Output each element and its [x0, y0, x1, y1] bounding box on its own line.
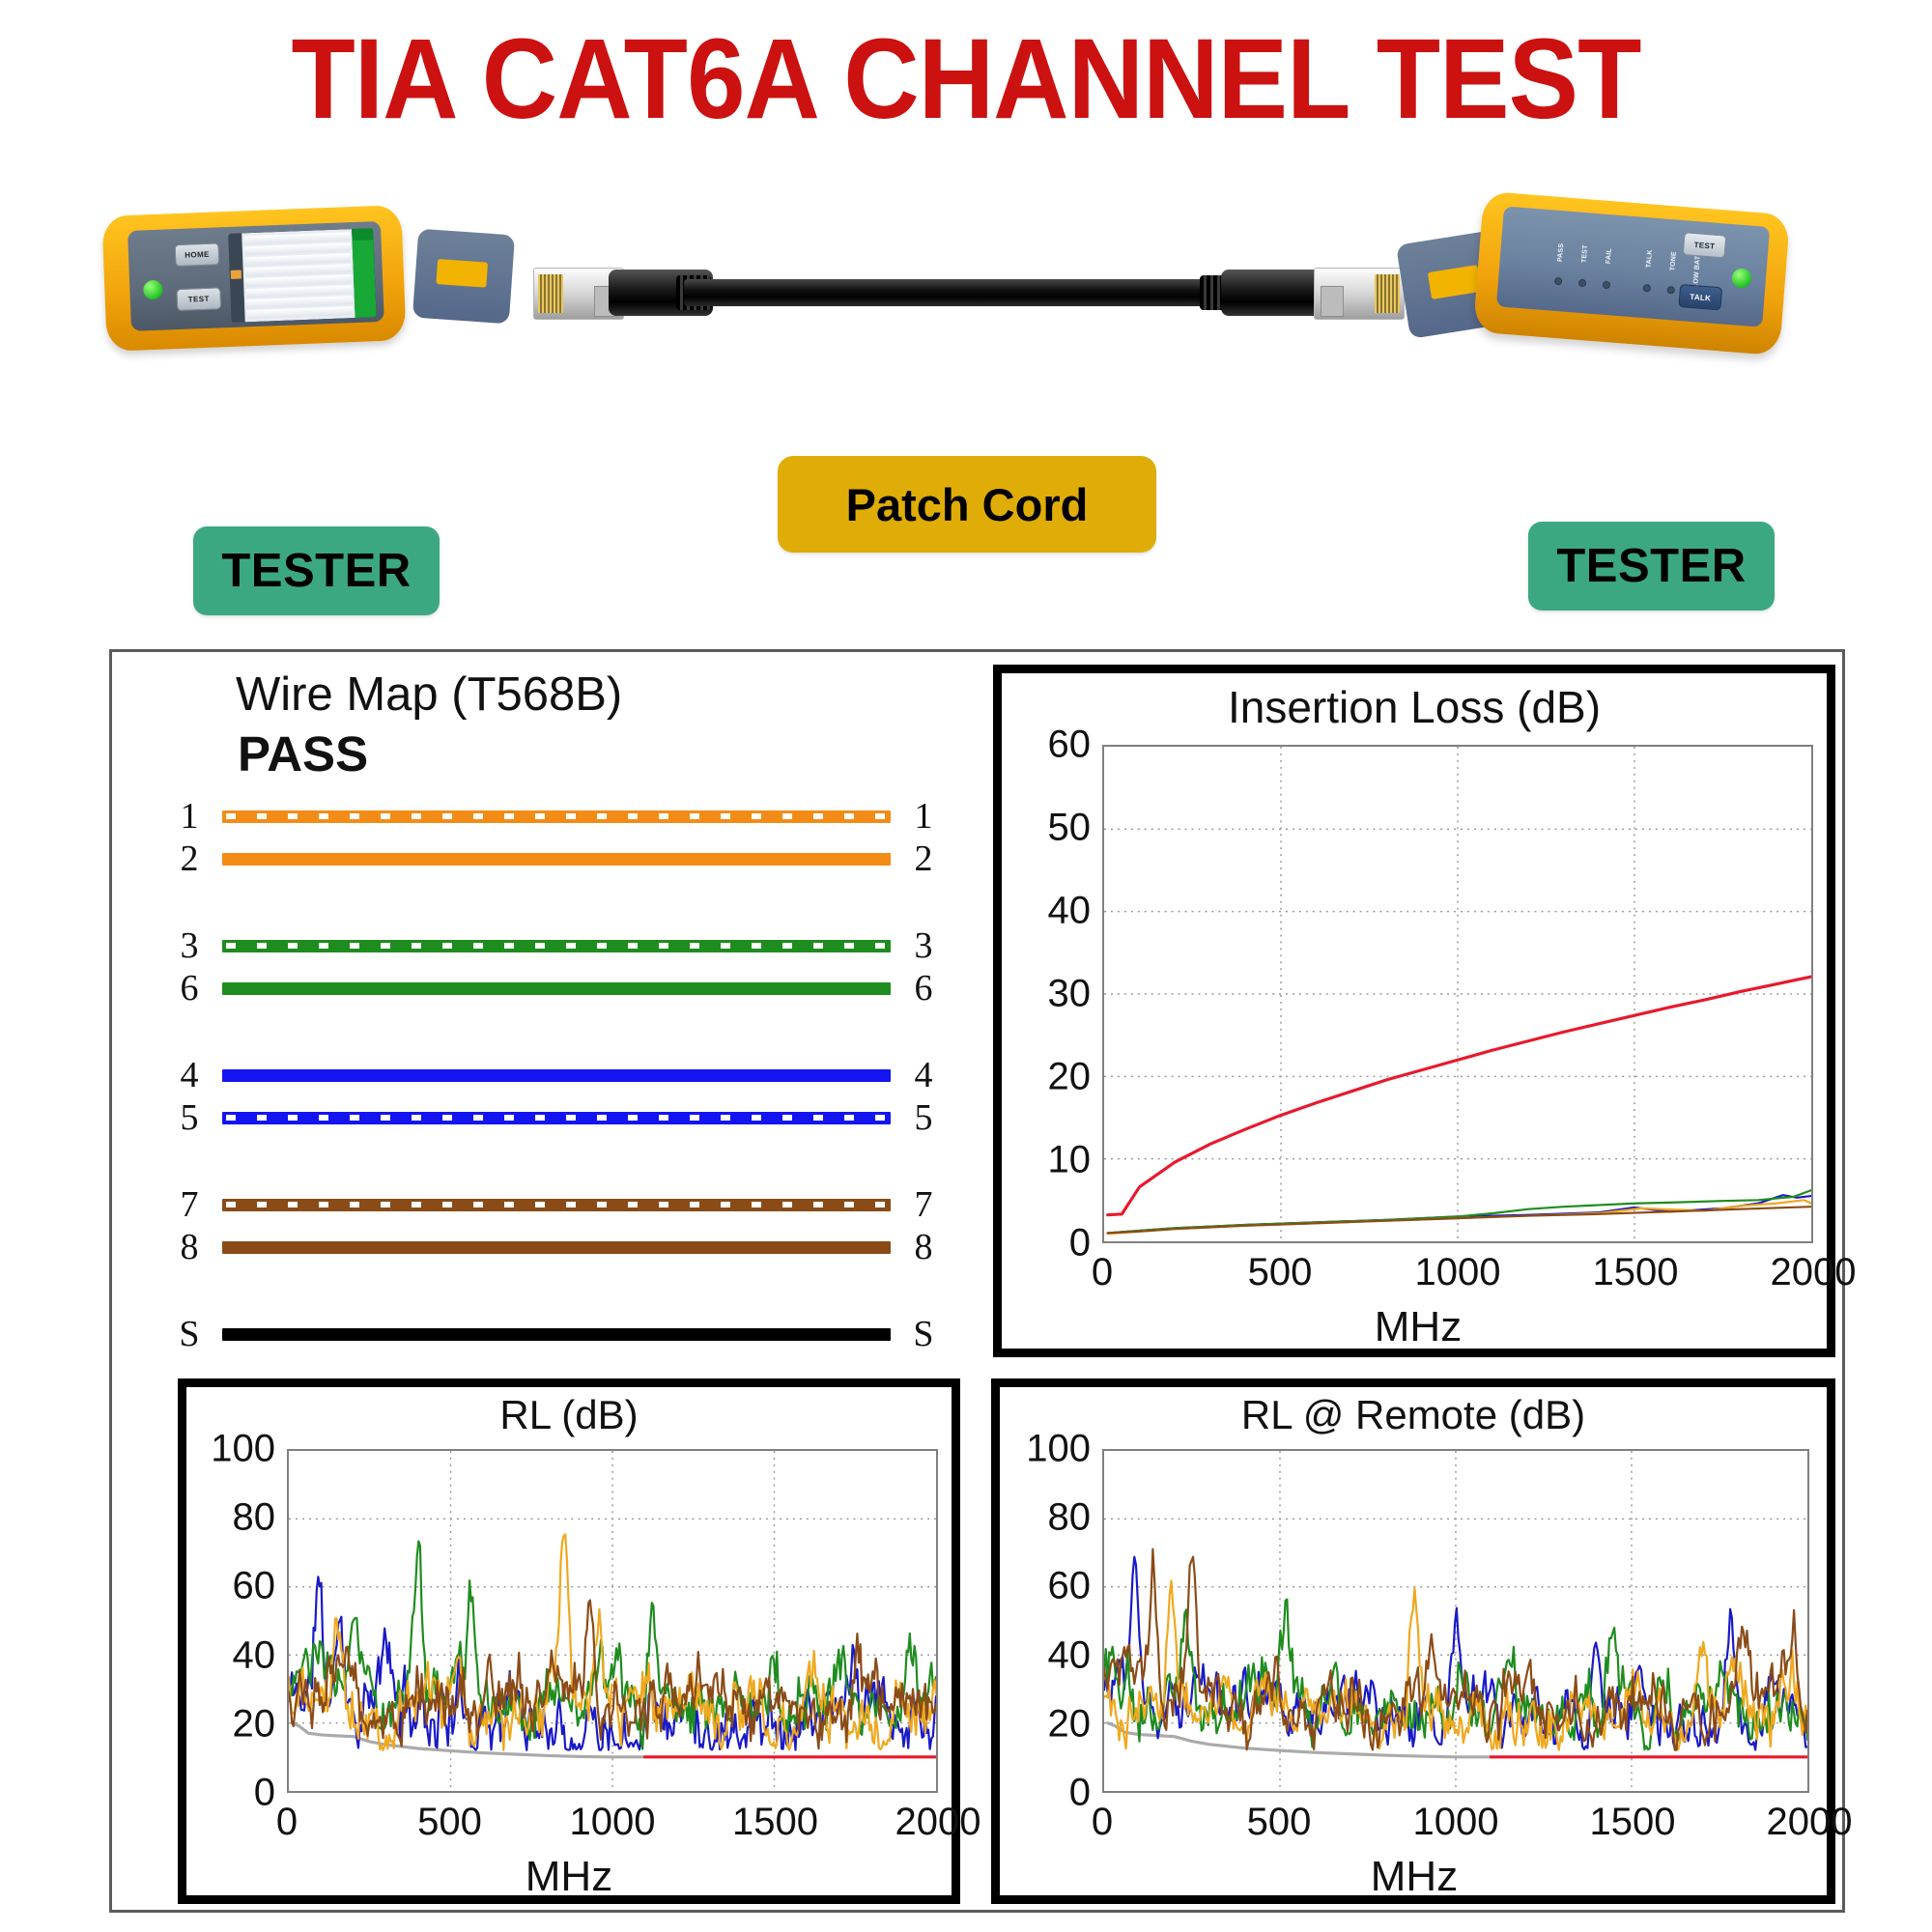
y-axis-tick-label: 40: [233, 1634, 276, 1677]
right-tester-talk-button[interactable]: TALK: [1678, 284, 1722, 310]
y-axis-tick-label: 0: [254, 1772, 275, 1815]
led-label-talk: TALK: [1644, 237, 1655, 281]
x-axis-tick-label: 2000: [1771, 1251, 1857, 1294]
y-axis-tick-label: 100: [1026, 1428, 1091, 1471]
patch-cord-plug-right: [1314, 268, 1405, 320]
patch-cord-boot-right: [1221, 270, 1325, 316]
wire-conductor: [222, 1069, 891, 1082]
led-label-tone: TONE: [1668, 239, 1679, 283]
led-dot-pass: [1554, 277, 1563, 286]
wire-map-section: Wire Map (T568B) PASS 1122336644557788SS: [112, 652, 986, 1348]
wire-pair-spacer: [170, 1009, 943, 1054]
chart-insertion-loss-title: Insertion Loss (dB): [1002, 681, 1827, 733]
wire-pin-number-left: S: [170, 1313, 209, 1355]
left-tester-secondary-label-plate: [436, 259, 488, 288]
x-axis-tick-label: 1000: [1413, 1801, 1499, 1844]
chart-rl-plot: 0204060801000500100015002000MHz: [190, 1443, 948, 1897]
x-axis-tick-label: 500: [1248, 1251, 1313, 1294]
wire-pair-spacer: [170, 1268, 943, 1313]
wire-pin-number-right: 7: [904, 1183, 943, 1226]
y-axis-tick-label: 10: [1048, 1139, 1092, 1182]
wire-map-title: Wire Map (T568B): [236, 668, 622, 722]
wire-pair-row: 22: [170, 838, 943, 880]
x-axis-tick-label: 1500: [1590, 1801, 1676, 1844]
wire-conductor: [222, 940, 891, 952]
wire-map-pair-list: 1122336644557788SS: [170, 795, 943, 1355]
patch-cord-cable: [533, 246, 1403, 339]
hardware-row: HOME TEST: [0, 179, 1932, 430]
x-axis-ticks: 0500100015002000: [1102, 1251, 1813, 1299]
wire-pin-number-right: 5: [904, 1096, 943, 1139]
led-label-test: TEST: [1579, 232, 1590, 276]
led-dot-fail: [1603, 281, 1611, 290]
right-tester-device[interactable]: PASS TEST FAIL TALK TONE LOW BATTERY TES…: [1473, 191, 1790, 355]
y-axis-ticks: 020406080100: [1006, 1449, 1091, 1793]
rj45-pins-left: [538, 274, 563, 313]
left-tester-power-led: [143, 280, 163, 300]
wire-conductor: [222, 1241, 891, 1254]
chart-rl: RL (dB) 0204060801000500100015002000MHz: [178, 1378, 960, 1904]
y-axis-tick-label: 30: [1048, 973, 1092, 1016]
wire-pair-row: 55: [170, 1096, 943, 1139]
wire-pin-number-right: S: [904, 1313, 943, 1355]
right-tester-led-group-status: PASS TEST FAIL: [1554, 230, 1614, 289]
chart-rl-remote-plot: 0204060801000500100015002000MHz: [1006, 1443, 1823, 1897]
chart-insertion-loss-plot: 01020304050600500100015002000MHz: [1009, 737, 1827, 1351]
x-axis-ticks: 0500100015002000: [1102, 1801, 1809, 1849]
led-dot-test: [1578, 279, 1587, 288]
wire-pin-number-right: 1: [904, 795, 943, 838]
y-axis-tick-label: 80: [233, 1496, 276, 1540]
chart-rl-remote-title: RL @ Remote (dB): [1000, 1392, 1827, 1438]
x-axis-label: MHz: [190, 1853, 948, 1901]
y-axis-tick-label: 60: [233, 1565, 276, 1608]
y-axis-tick-label: 20: [233, 1702, 276, 1746]
x-axis-tick-label: 0: [1092, 1801, 1113, 1844]
led-label-pass: PASS: [1555, 230, 1566, 274]
x-axis-label: MHz: [1009, 1303, 1827, 1351]
right-tester-secondary-label-plate: [1428, 265, 1482, 299]
led-label-fail: FAIL: [1604, 234, 1614, 278]
wire-conductor: [222, 1328, 891, 1341]
x-axis-label: MHz: [1006, 1853, 1823, 1901]
wire-conductor: [222, 982, 891, 995]
left-tester-faceplate: HOME TEST: [128, 221, 384, 331]
wire-conductor: [222, 853, 891, 866]
wire-conductor: [222, 1112, 891, 1124]
wire-pin-number-left: 2: [170, 838, 209, 880]
right-tester-test-button[interactable]: TEST: [1683, 232, 1727, 258]
x-axis-tick-label: 1500: [732, 1801, 818, 1844]
wire-pin-number-right: 4: [904, 1054, 943, 1096]
wire-pin-number-left: 7: [170, 1183, 209, 1226]
wire-pair-row: 88: [170, 1226, 943, 1268]
x-axis-tick-label: 1000: [1415, 1251, 1501, 1294]
label-patch-cord: Patch Cord: [778, 456, 1156, 553]
wire-pair-row: 33: [170, 924, 943, 967]
y-axis-tick-label: 20: [1048, 1702, 1092, 1746]
x-axis-tick-label: 500: [1247, 1801, 1312, 1844]
left-tester-device[interactable]: HOME TEST: [101, 205, 406, 352]
wire-pair-spacer: [170, 880, 943, 924]
x-axis-tick-label: 1500: [1593, 1251, 1679, 1294]
y-axis-tick-label: 60: [1048, 1565, 1092, 1608]
x-axis-tick-label: 0: [276, 1801, 298, 1844]
plot-area: [1102, 1449, 1809, 1793]
wire-pin-number-left: 5: [170, 1096, 209, 1139]
wire-pair-row: 66: [170, 967, 943, 1009]
patch-cord-jacket: [684, 279, 1260, 306]
y-axis-tick-label: 0: [1069, 1222, 1091, 1265]
y-axis-ticks: 0102030405060: [1009, 745, 1091, 1243]
label-tester-left: TESTER: [193, 526, 440, 615]
left-tester-result-rows: [241, 229, 355, 322]
x-axis-tick-label: 0: [1092, 1251, 1113, 1294]
rj45-shield-right: [1321, 286, 1344, 317]
wire-pin-number-left: 1: [170, 795, 209, 838]
wire-conductor: [222, 1199, 891, 1211]
rj45-pins-right: [1375, 274, 1400, 313]
chart-rl-remote: RL @ Remote (dB) 02040608010005001000150…: [991, 1378, 1835, 1904]
wire-pair-row: 44: [170, 1054, 943, 1096]
y-axis-tick-label: 40: [1048, 1634, 1092, 1677]
chart-insertion-loss: Insertion Loss (dB) 01020304050600500100…: [993, 665, 1835, 1357]
y-axis-tick-label: 60: [1048, 724, 1092, 767]
plot-area: [1102, 745, 1813, 1243]
x-axis-tick-label: 2000: [895, 1801, 981, 1844]
wire-pair-row: 11: [170, 795, 943, 838]
wire-pin-number-left: 4: [170, 1054, 209, 1096]
y-axis-tick-label: 100: [211, 1428, 275, 1471]
y-axis-tick-label: 40: [1048, 890, 1092, 933]
left-tester-test-button[interactable]: TEST: [176, 287, 221, 311]
results-panel: Wire Map (T568B) PASS 1122336644557788SS…: [109, 649, 1845, 1913]
y-axis-tick-label: 20: [1048, 1056, 1092, 1099]
y-axis-tick-label: 80: [1048, 1496, 1092, 1540]
wire-map-result-status: PASS: [238, 725, 368, 782]
chart-rl-title: RL (dB): [186, 1392, 952, 1438]
page-title: TIA CAT6A CHANNEL TEST: [77, 14, 1855, 145]
left-tester-secondary-body: [412, 229, 515, 325]
wire-pair-spacer: [170, 1139, 943, 1183]
wire-pin-number-right: 8: [904, 1226, 943, 1268]
right-tester-power-led: [1731, 268, 1752, 289]
wire-pin-number-left: 3: [170, 924, 209, 967]
label-tester-right: TESTER: [1528, 522, 1775, 611]
left-tester-home-button[interactable]: HOME: [175, 242, 220, 267]
right-tester-faceplate: PASS TEST FAIL TALK TONE LOW BATTERY TES…: [1496, 206, 1770, 327]
wire-pin-number-right: 2: [904, 838, 943, 880]
wire-pin-number-left: 8: [170, 1226, 209, 1268]
x-axis-tick-label: 500: [417, 1801, 482, 1844]
left-tester-screen[interactable]: [228, 228, 376, 323]
wire-pin-number-left: 6: [170, 967, 209, 1009]
x-axis-ticks: 0500100015002000: [287, 1801, 938, 1849]
x-axis-tick-label: 1000: [570, 1801, 656, 1844]
y-axis-tick-label: 0: [1069, 1772, 1091, 1815]
wire-conductor: [222, 810, 891, 823]
plot-area: [287, 1449, 938, 1793]
wire-pin-number-right: 3: [904, 924, 943, 967]
wire-pair-row: 77: [170, 1183, 943, 1226]
left-tester-pass-indicator: [352, 228, 377, 318]
y-axis-ticks: 020406080100: [190, 1449, 275, 1793]
wire-pair-row: SS: [170, 1313, 943, 1355]
y-axis-tick-label: 50: [1048, 807, 1092, 850]
screenshot-root: TIA CAT6A CHANNEL TEST HOME TEST: [0, 0, 1932, 1932]
led-dot-tone: [1666, 286, 1675, 295]
led-dot-talk: [1643, 284, 1652, 293]
wire-pin-number-right: 6: [904, 967, 943, 1009]
x-axis-tick-label: 2000: [1767, 1801, 1853, 1844]
